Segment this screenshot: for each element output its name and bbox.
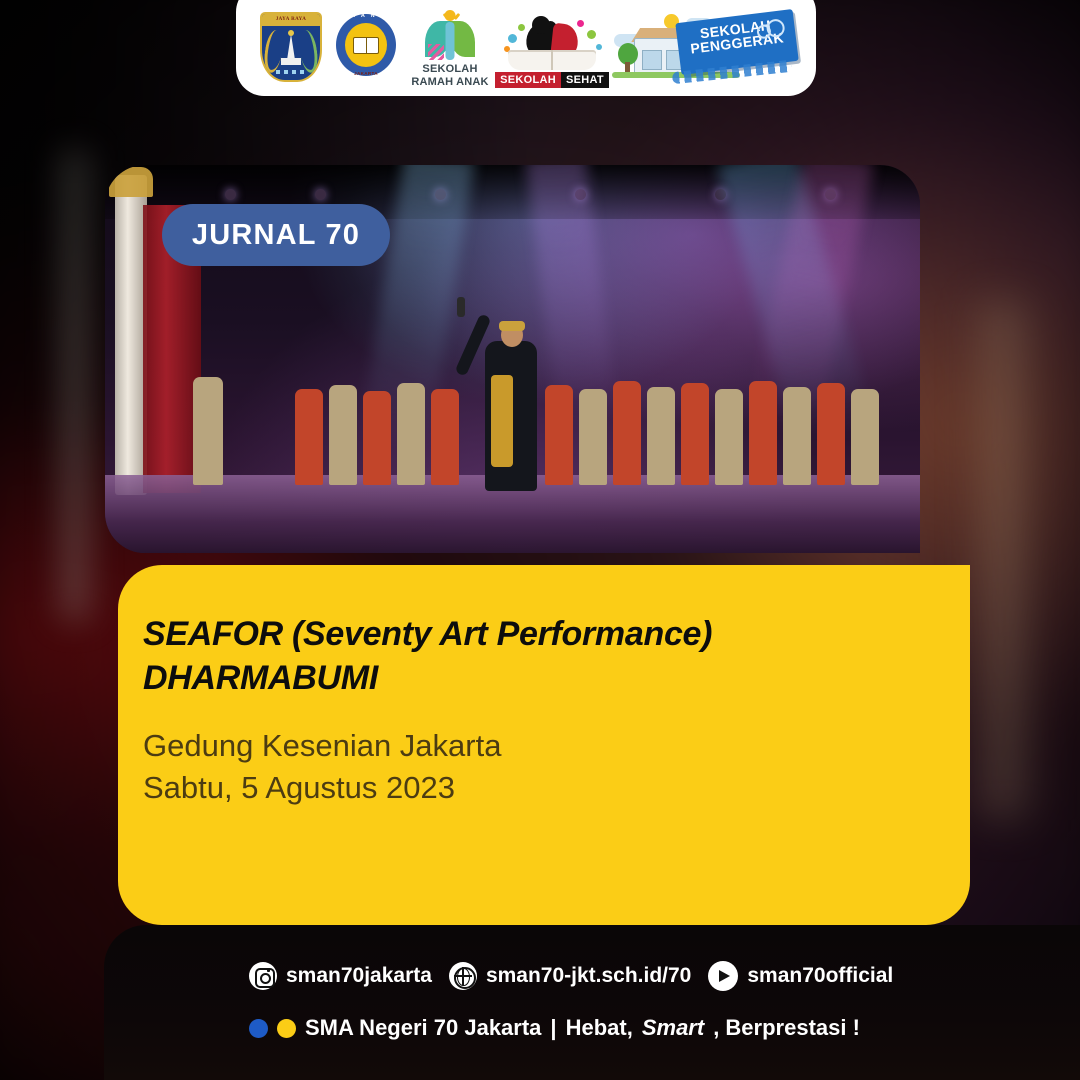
book-with-figures-icon: [500, 16, 604, 70]
performer: [295, 389, 323, 485]
figure-red-head-icon: [560, 26, 573, 39]
performer: [193, 377, 223, 485]
social-youtube[interactable]: sman70official: [708, 961, 893, 991]
wave-lines-icon: [276, 70, 306, 74]
performer: [397, 383, 425, 485]
sekolah-ramah-anak-logo: SEKOLAH RAMAH ANAK: [406, 4, 494, 88]
tagline-separator: |: [550, 1015, 556, 1041]
dki-jakarta-emblem: JAYA RAYA: [252, 10, 326, 88]
confetti-dot: [508, 34, 517, 43]
emblem-middle-text: JAKARTA: [329, 71, 403, 76]
shield-shape: JAYA RAYA: [260, 12, 322, 82]
caption-part-2: SEHAT: [561, 72, 609, 88]
sekolah-sehat-logo: SEKOLAH SEHAT: [497, 4, 607, 88]
confetti-dot: [587, 30, 596, 39]
singer-sash: [491, 375, 513, 467]
monas-flame-icon: [288, 30, 294, 36]
performer: [749, 381, 777, 485]
stem-icon: [446, 22, 455, 60]
figure-black-head-icon: [532, 16, 550, 34]
tree-icon: [618, 44, 638, 74]
school-tagline: SMA Negeri 70 Jakarta | Hebat, Smart , B…: [249, 1015, 860, 1041]
logo-caption: SEKOLAH RAMAH ANAK: [411, 63, 488, 88]
performer: [329, 385, 357, 485]
monas-tower-icon: [287, 34, 295, 60]
social-instagram[interactable]: sman70jakarta: [249, 962, 432, 990]
website-url: sman70-jkt.sch.id/70: [486, 964, 691, 988]
youtube-icon: [708, 961, 738, 991]
event-date: Sabtu, 5 Agustus 2023: [143, 767, 940, 809]
monas-base-icon: [281, 58, 301, 65]
social-website[interactable]: sman70-jkt.sch.id/70: [449, 962, 691, 990]
jurnal-badge-label: JURNAL 70: [192, 219, 360, 252]
tagline-word-3: , Berprestasi !: [713, 1015, 860, 1041]
performer: [647, 387, 675, 485]
school-building-icon: SEKOLAH PENGGERAK: [612, 8, 798, 88]
caption-line-2: RAMAH ANAK: [411, 76, 488, 88]
rice-stalk-left-icon: [262, 29, 285, 74]
jurnal-badge: JURNAL 70: [162, 204, 390, 266]
performer: [579, 389, 607, 485]
cotton-stalk-right-icon: [297, 29, 320, 74]
dot-blue-icon: [249, 1019, 268, 1038]
emblem-top-text: S M A N 70: [329, 13, 403, 19]
caption-line-1: SEKOLAH: [411, 63, 488, 75]
emblem-bottom-text: TUT WURI HANDAYANI: [329, 81, 403, 86]
logo-bar: JAYA RAYA S M A N 70 JAKARTA TUT WURI HA…: [236, 0, 816, 96]
child-head-icon: [445, 10, 456, 21]
youtube-handle: sman70official: [747, 964, 893, 988]
confetti-dot: [577, 20, 584, 27]
info-card: SEAFOR (Seventy Art Performance) DHARMAB…: [118, 565, 970, 925]
emblem-outer-circle: [336, 14, 396, 76]
stage-lamp-icon: [315, 189, 326, 200]
footer-bar: sman70jakarta sman70-jkt.sch.id/70 sman7…: [104, 925, 1080, 1080]
performer: [681, 383, 709, 485]
performer: [851, 389, 879, 485]
instagram-icon: [249, 962, 277, 990]
tagline-school-name: SMA Negeri 70 Jakarta: [305, 1015, 541, 1041]
open-book-icon: [353, 37, 379, 54]
performer: [363, 391, 391, 485]
confetti-dot: [518, 24, 525, 31]
shield-banner: JAYA RAYA: [262, 14, 320, 26]
sman70-jakarta-emblem: S M A N 70 JAKARTA TUT WURI HANDAYANI: [329, 10, 403, 88]
caption-part-1: SEKOLAH: [495, 72, 561, 88]
event-title-line-1: SEAFOR (Seventy Art Performance): [143, 613, 940, 657]
performer: [545, 385, 573, 485]
social-links: sman70jakarta sman70-jkt.sch.id/70 sman7…: [249, 961, 893, 991]
performer: [783, 387, 811, 485]
performer: [715, 389, 743, 485]
sekolah-penggerak-logo: SEKOLAH PENGGERAK: [610, 4, 800, 88]
confetti-dot: [596, 44, 602, 50]
event-title-line-2: DHARMABUMI: [143, 657, 940, 701]
child-plant-icon: [422, 10, 478, 62]
dot-yellow-icon: [277, 1019, 296, 1038]
globe-icon: [449, 962, 477, 990]
microphone-icon: [457, 297, 465, 317]
open-book-icon: [508, 50, 596, 70]
instagram-handle: sman70jakarta: [286, 964, 432, 988]
column-capital: [109, 167, 153, 197]
event-details: Gedung Kesenian Jakarta Sabtu, 5 Agustus…: [143, 725, 940, 809]
pink-pattern-icon: [428, 44, 444, 60]
performer: [817, 383, 845, 485]
logo-caption: SEKOLAH SEHAT: [495, 72, 609, 88]
performer: [613, 381, 641, 485]
stage-lamp-icon: [225, 189, 236, 200]
singer-cap: [499, 321, 525, 331]
tagline-word-1: Hebat,: [566, 1015, 633, 1041]
event-venue: Gedung Kesenian Jakarta: [143, 725, 940, 767]
tagline-word-2: Smart: [642, 1015, 704, 1041]
emblem-inner-circle: [345, 23, 387, 67]
performer: [431, 389, 459, 485]
window-icon: [642, 50, 662, 70]
event-title: SEAFOR (Seventy Art Performance) DHARMAB…: [143, 613, 940, 700]
shield-banner-text: JAYA RAYA: [262, 14, 320, 26]
